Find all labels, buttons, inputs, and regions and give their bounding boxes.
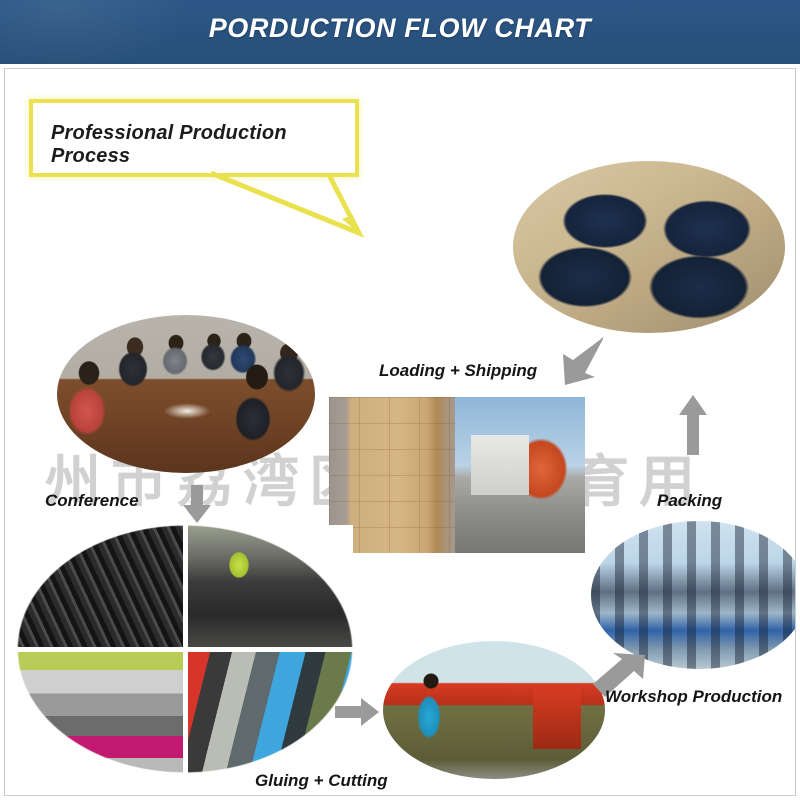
page-title: PORDUCTION FLOW CHART	[0, 13, 800, 44]
meeting-room-photo	[57, 315, 315, 473]
label-packing: Packing	[657, 491, 722, 511]
speech-bubble-text: Professional Production Process	[51, 122, 347, 168]
packed-boxes-photo	[513, 161, 785, 333]
label-gluing-cutting: Gluing + Cutting	[255, 771, 388, 791]
speech-bubble-tail-icon	[209, 171, 399, 251]
arrow-conference-down-icon	[180, 485, 214, 525]
content-frame: 州市荔湾区佳朗休育用 Professional Production Proce…	[4, 68, 796, 796]
flow-chart-page: PORDUCTION FLOW CHART 州市荔湾区佳朗休育用 Profess…	[0, 0, 800, 800]
label-workshop-production: Workshop Production	[605, 687, 782, 707]
speech-bubble-box: Professional Production Process	[29, 99, 359, 177]
collage-oval-mask	[17, 525, 353, 773]
arrow-boxes-downleft-icon	[551, 337, 605, 389]
label-loading-shipping: Loading + Shipping	[379, 361, 537, 381]
factory-workshop-photo	[591, 521, 796, 669]
cutting-machine-photo	[383, 641, 605, 779]
speech-bubble: Professional Production Process	[29, 99, 379, 239]
arrow-materials-right-icon	[335, 697, 381, 727]
container-truck-photo	[329, 397, 585, 553]
delivery-truck-image	[455, 397, 585, 553]
materials-collage-photo	[17, 525, 353, 773]
label-conference: Conference	[45, 491, 139, 511]
header-banner: PORDUCTION FLOW CHART	[0, 0, 800, 64]
arrow-workshop-up-icon	[678, 395, 708, 457]
